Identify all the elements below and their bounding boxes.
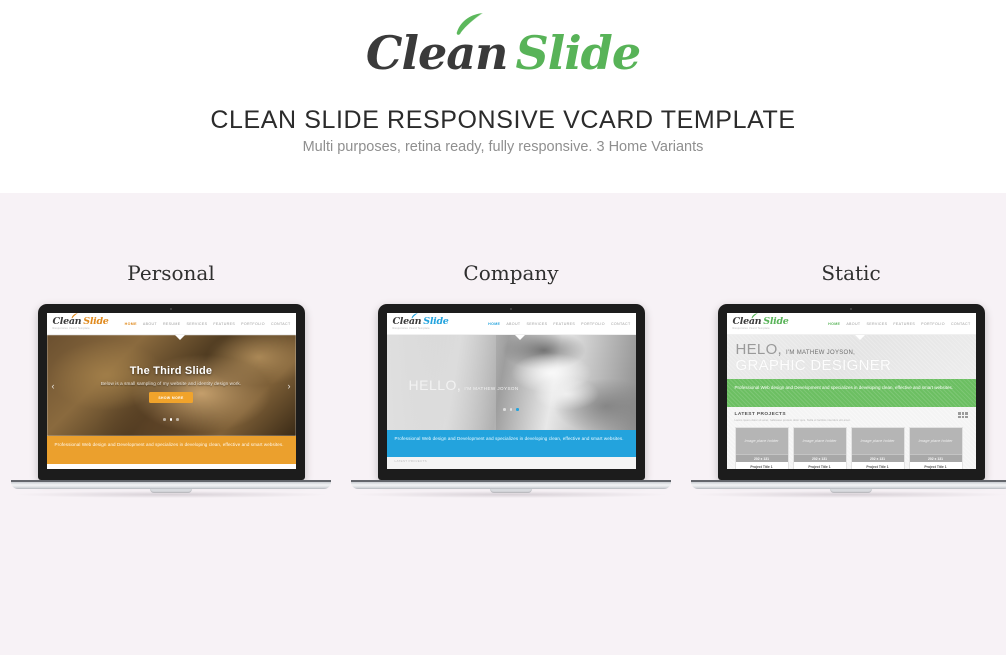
- laptop-mockup-static[interactable]: Clean Slide Responsive Vcard Template HO…: [691, 304, 1006, 498]
- intro-banner: Professional Web design and Development …: [727, 379, 976, 407]
- project-card[interactable]: Image place holder 202 x 131 Project Tit…: [909, 427, 963, 469]
- project-card[interactable]: Image place holder 202 x 131 Project Tit…: [851, 427, 905, 469]
- project-card[interactable]: Image place holder 202 x 131 Project Tit…: [793, 427, 847, 469]
- site-navbar: Clean Slide Responsive Vcard Template HO…: [727, 313, 976, 335]
- site-logo[interactable]: Clean Slide Responsive Vcard Template: [53, 317, 109, 331]
- project-dimension: 202 x 131: [736, 454, 788, 462]
- laptop-mockup-personal[interactable]: Clean Slide Responsive Vcard Template HO…: [11, 304, 331, 498]
- webcam-icon: [850, 308, 852, 310]
- site-logo-slide: Slide: [83, 317, 108, 327]
- projects-title: LATEST PROJECTS: [735, 412, 851, 417]
- menu-item-features[interactable]: FEATURES: [553, 322, 575, 326]
- project-card[interactable]: Image place holder 202 x 131 Project Tit…: [735, 427, 789, 469]
- project-thumbnail: Image place holder: [852, 428, 904, 454]
- site-logo-tagline: Responsive Vcard Template: [733, 328, 789, 331]
- hero-slider[interactable]: The Third Slide Below is a small samplin…: [47, 335, 296, 436]
- intro-banner: Professional Web design and Development …: [387, 430, 636, 457]
- projects-header: LATEST PROJECTS Lorem ipsum dolor sit am…: [735, 412, 968, 422]
- preview-site-personal: Clean Slide Responsive Vcard Template HO…: [47, 313, 296, 469]
- slider-next-icon[interactable]: ›: [288, 381, 291, 391]
- hero-static: HELO, I'M MATHEW JOYSON, GRAPHIC DESIGNE…: [727, 335, 976, 379]
- slider-dot[interactable]: [176, 418, 179, 421]
- site-menu: HOME ABOUT RESUME SERVICES FEATURES PORT…: [125, 322, 291, 326]
- variant-label-personal: Personal: [51, 261, 291, 285]
- hero-name-text: I'M MATHEW JOYSON: [464, 386, 518, 391]
- hero-greeting-text: HELLO,: [409, 377, 462, 393]
- slider-dots: [387, 408, 636, 411]
- menu-item-home[interactable]: HOME: [828, 322, 840, 326]
- intro-banner-text: Professional Web design and Development …: [395, 435, 628, 443]
- footer-hint-text: LATEST PROJECTS: [395, 459, 427, 463]
- slider-dot-active[interactable]: [170, 418, 173, 421]
- slider-dot[interactable]: [163, 418, 166, 421]
- menu-item-contact[interactable]: CONTACT: [611, 322, 631, 326]
- page-title: CLEAN SLIDE RESPONSIVE VCARD TEMPLATE: [0, 106, 1006, 135]
- project-placeholder-text: Image place holder: [918, 438, 952, 443]
- page-header: CleanSlide CLEAN SLIDE RESPONSIVE VCARD …: [0, 0, 1006, 193]
- preview-site-static: Clean Slide Responsive Vcard Template HO…: [727, 313, 976, 469]
- menu-item-features[interactable]: FEATURES: [893, 322, 915, 326]
- menu-item-home[interactable]: HOME: [125, 322, 137, 326]
- logo-text-slide: Slide: [516, 26, 641, 80]
- laptop-screen: Clean Slide Responsive Vcard Template HO…: [47, 313, 296, 469]
- intro-banner-text: Professional Web design and Development …: [735, 384, 968, 392]
- laptop-base: [351, 480, 671, 498]
- site-logo[interactable]: Clean Slide Responsive Vcard Template: [733, 317, 789, 331]
- project-dimension: 202 x 131: [852, 454, 904, 462]
- site-logo-slide: Slide: [763, 317, 788, 327]
- webcam-icon: [170, 308, 172, 310]
- intro-banner-text: Professional Web design and Development …: [55, 441, 288, 449]
- nav-active-caret-icon: [175, 335, 185, 340]
- leaf-icon: [411, 313, 418, 319]
- menu-item-about[interactable]: ABOUT: [506, 322, 520, 326]
- slider-dot-active[interactable]: [516, 408, 519, 411]
- slider-dots: [47, 418, 296, 421]
- menu-item-resume[interactable]: RESUME: [163, 322, 180, 326]
- project-thumbnail: Image place holder: [736, 428, 788, 454]
- laptop-base: [11, 480, 331, 498]
- menu-item-services[interactable]: SERVICES: [526, 322, 547, 326]
- menu-item-portfolio[interactable]: PORTFOLIO: [921, 322, 945, 326]
- project-thumbnail: Image place holder: [794, 428, 846, 454]
- slide-title: The Third Slide: [47, 365, 296, 377]
- menu-item-about[interactable]: ABOUT: [143, 322, 157, 326]
- project-placeholder-text: Image place holder: [860, 438, 894, 443]
- laptop-base: [691, 480, 1006, 498]
- hero-greeting: HELO, I'M MATHEW JOYSON,: [736, 341, 856, 358]
- menu-item-portfolio[interactable]: PORTFOLIO: [241, 322, 265, 326]
- site-logo-tagline: Responsive Vcard Template: [393, 328, 449, 331]
- hero-greeting: HELLO, I'M MATHEW JOYSON: [409, 377, 519, 393]
- variant-label-static: Static: [731, 261, 971, 285]
- menu-item-portfolio[interactable]: PORTFOLIO: [581, 322, 605, 326]
- latest-projects-section: LATEST PROJECTS Lorem ipsum dolor sit am…: [727, 407, 976, 469]
- site-logo-tagline: Responsive Vcard Template: [53, 328, 109, 331]
- site-logo-slide: Slide: [423, 317, 448, 327]
- show-more-button[interactable]: SHOW MORE: [149, 392, 193, 403]
- laptop-shadow: [357, 491, 665, 498]
- laptop-shadow: [17, 491, 325, 498]
- projects-description: Lorem ipsum dolor sit amet, habitasse pr…: [735, 419, 851, 422]
- menu-item-about[interactable]: ABOUT: [846, 322, 860, 326]
- laptop-screen: Clean Slide Responsive Vcard Template HO…: [387, 313, 636, 469]
- project-placeholder-text: Image place holder: [802, 438, 836, 443]
- menu-item-services[interactable]: SERVICES: [186, 322, 207, 326]
- variant-label-company: Company: [391, 261, 631, 285]
- site-menu: HOME ABOUT SERVICES FEATURES PORTFOLIO C…: [488, 322, 630, 326]
- menu-item-services[interactable]: SERVICES: [866, 322, 887, 326]
- menu-item-contact[interactable]: CONTACT: [271, 322, 291, 326]
- webcam-icon: [510, 308, 512, 310]
- menu-item-features[interactable]: FEATURES: [213, 322, 235, 326]
- project-dimension: 202 x 131: [910, 454, 962, 462]
- laptop-lid: Clean Slide Responsive Vcard Template HO…: [718, 304, 985, 480]
- site-navbar: Clean Slide Responsive Vcard Template HO…: [387, 313, 636, 335]
- slider-prev-icon[interactable]: ‹: [52, 381, 55, 391]
- intro-banner: Professional Web design and Development …: [47, 436, 296, 464]
- project-title: Project Title 1: [794, 462, 846, 469]
- page-subtitle: Multi purposes, retina ready, fully resp…: [0, 139, 1006, 155]
- project-title: Project Title 1: [910, 462, 962, 469]
- slide-subtitle: Below is a small sampling of my website …: [47, 381, 296, 386]
- project-thumbnail: Image place holder: [910, 428, 962, 454]
- laptop-screen: Clean Slide Responsive Vcard Template HO…: [727, 313, 976, 469]
- site-logo[interactable]: Clean Slide Responsive Vcard Template: [393, 317, 449, 331]
- project-dimension: 202 x 131: [794, 454, 846, 462]
- leaf-icon: [71, 313, 78, 319]
- project-placeholder-text: Image place holder: [744, 438, 778, 443]
- menu-item-home[interactable]: HOME: [488, 322, 500, 326]
- projects-grid: Image place holder 202 x 131 Project Tit…: [735, 427, 968, 469]
- hero-slider[interactable]: HELLO, I'M MATHEW JOYSON: [387, 335, 636, 430]
- showcase-section: Personal Company Static Clean Slide: [0, 193, 1006, 655]
- slider-dot[interactable]: [503, 408, 506, 411]
- laptop-lid: Clean Slide Responsive Vcard Template HO…: [38, 304, 305, 480]
- project-title: Project Title 1: [852, 462, 904, 469]
- brand-logo: CleanSlide: [0, 22, 1006, 84]
- slider-dot[interactable]: [510, 408, 513, 411]
- nav-active-caret-icon: [515, 335, 525, 340]
- grid-view-icon[interactable]: [958, 412, 968, 418]
- hero-name-text: I'M MATHEW JOYSON,: [786, 350, 855, 356]
- menu-item-contact[interactable]: CONTACT: [951, 322, 971, 326]
- preview-site-company: Clean Slide Responsive Vcard Template HO…: [387, 313, 636, 469]
- laptop-shadow: [697, 491, 1005, 498]
- project-title: Project Title 1: [736, 462, 788, 469]
- leaf-icon: [751, 313, 758, 319]
- logo-text-clean: Clean: [366, 26, 508, 80]
- nav-active-caret-icon: [855, 335, 865, 340]
- site-navbar: Clean Slide Responsive Vcard Template HO…: [47, 313, 296, 335]
- laptop-mockup-company[interactable]: Clean Slide Responsive Vcard Template HO…: [351, 304, 671, 498]
- site-menu: HOME ABOUT SERVICES FEATURES PORTFOLIO C…: [828, 322, 970, 326]
- hero-greeting-text: HELO,: [736, 341, 783, 358]
- laptop-lid: Clean Slide Responsive Vcard Template HO…: [378, 304, 645, 480]
- hero-role-text: GRAPHIC DESIGNER: [736, 357, 892, 374]
